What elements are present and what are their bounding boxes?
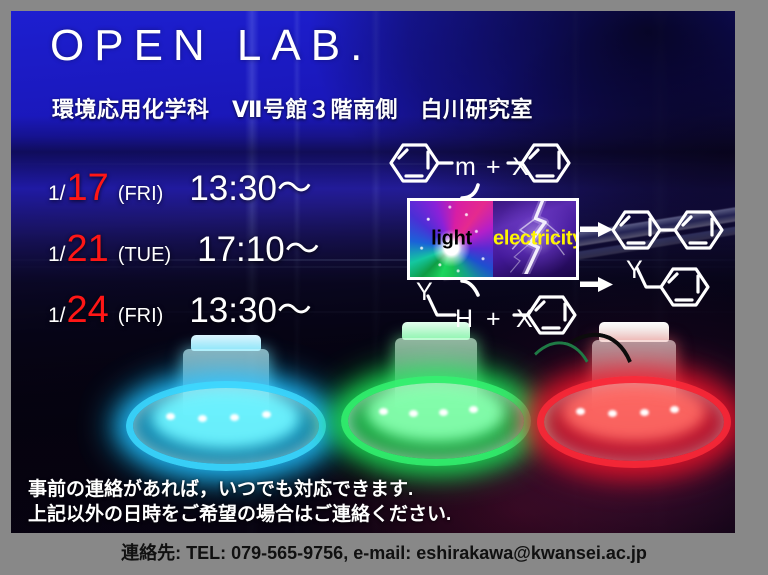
schedule-day: 24	[67, 289, 109, 332]
schedule-time: 17:10〜	[197, 221, 320, 272]
laboratory-photo	[11, 11, 735, 533]
green-led-reactor	[341, 334, 531, 474]
page-subtitle: 環境応用化学科 Ⅶ号館３階南側 白川研究室	[52, 92, 533, 124]
schedule-weekday: (FRI)	[118, 183, 164, 206]
cyan-led-reactor	[126, 341, 326, 476]
notice-line-1: 事前の連絡があれば，いつでも対応できます.	[28, 478, 451, 503]
inset-electricity-label: electricity	[493, 228, 576, 251]
page-title: OPEN LAB.	[50, 24, 372, 68]
contact-line: 連絡先: TEL: 079-565-9756, e-mail: eshiraka…	[0, 539, 768, 565]
notice-block: 事前の連絡があれば，いつでも対応できます. 上記以外の日時をご希望の場合はご連絡…	[28, 478, 451, 527]
schedule-month: 1/	[48, 304, 66, 328]
poster: m + X Y H + X Y light electricity OPEN L…	[0, 0, 768, 575]
inset-light-half: light	[410, 201, 493, 277]
schedule-row: 1/ 21 (TUE) 17:10〜	[48, 221, 320, 272]
schedule-weekday: (TUE)	[118, 244, 171, 267]
schedule-row: 1/ 24 (FRI) 13:30〜	[48, 282, 312, 333]
schedule-month: 1/	[48, 182, 66, 206]
schedule-day: 21	[67, 228, 109, 271]
schedule-day: 17	[67, 167, 109, 210]
notice-line-2: 上記以外の日時をご希望の場合はご連絡ください.	[28, 503, 451, 528]
schedule-weekday: (FRI)	[118, 305, 164, 328]
light-electricity-inset: light electricity	[407, 198, 579, 280]
schedule-month: 1/	[48, 243, 66, 267]
inset-electricity-half: electricity	[493, 201, 576, 277]
schedule-time: 13:30〜	[189, 160, 312, 211]
schedule-row: 1/ 17 (FRI) 13:30〜	[48, 160, 312, 211]
schedule-time: 13:30〜	[189, 282, 312, 333]
inset-light-label: light	[410, 228, 493, 251]
